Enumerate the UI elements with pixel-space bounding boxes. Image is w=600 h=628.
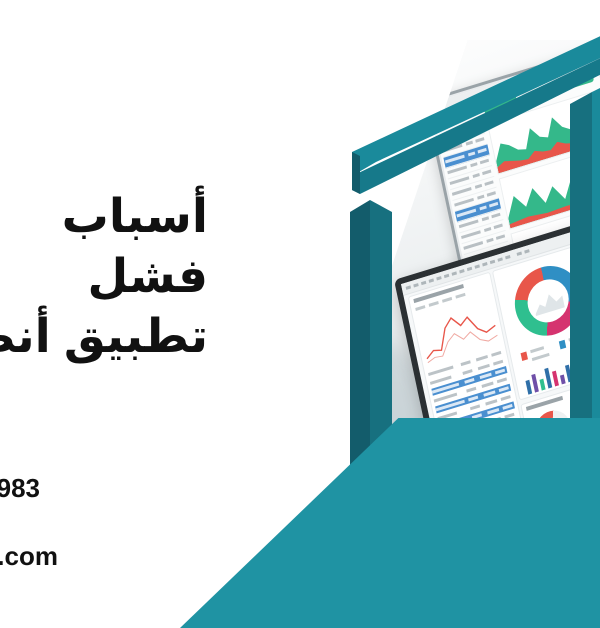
poster-canvas: أسباب فشل تطبيق أنظمة 983 o.com — [0, 0, 600, 628]
donut-hole — [524, 274, 573, 328]
headline-line-1: أسباب — [0, 186, 208, 246]
website-url: o.com — [0, 541, 58, 572]
headline: أسباب فشل تطبيق أنظمة — [0, 186, 208, 366]
donut-chart — [509, 258, 588, 345]
teal-wedge — [180, 418, 600, 628]
headline-line-3: تطبيق أنظمة — [0, 306, 208, 366]
phone-number: 983 — [0, 473, 40, 504]
headline-line-2: فشل — [0, 246, 208, 306]
